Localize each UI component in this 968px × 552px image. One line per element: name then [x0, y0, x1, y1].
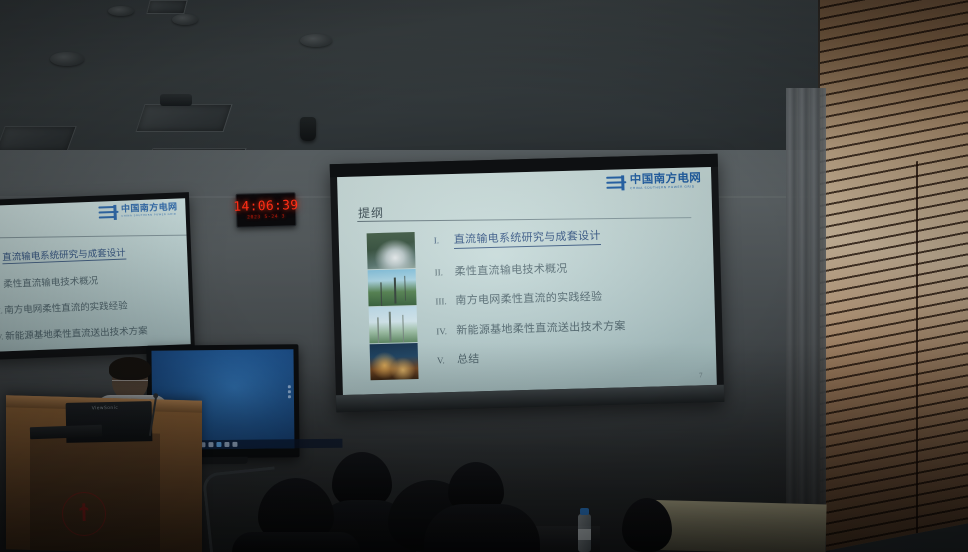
- item-number: I.: [434, 235, 454, 246]
- item-number: III.: [435, 296, 455, 307]
- item-label: 总结: [457, 350, 480, 367]
- projector: [300, 117, 316, 141]
- slide-thumbnail-strip: [367, 232, 419, 381]
- item-number: II.: [435, 266, 455, 277]
- left-slide-logo: 中国南方电网 CHINA SOUTHERN POWER GRID: [98, 203, 178, 221]
- transmission-towers-photo: [369, 306, 418, 343]
- laptop-base: [30, 425, 102, 440]
- window-curtain: [786, 88, 826, 552]
- list-item: V. 总结: [437, 344, 706, 367]
- air-vent: [146, 0, 187, 14]
- monitor-brand-label: ViewSonic: [92, 406, 119, 412]
- transmission-line-hills-photo: [368, 269, 417, 306]
- wall-shading: [820, 0, 968, 552]
- lecture-hall-photo: 中国南方电网 CHINA SOUTHERN POWER GRID I. 直流输电…: [0, 0, 968, 552]
- ceiling-speaker: [160, 94, 192, 106]
- slide-logo: 中国南方电网 CHINA SOUTHERN POWER GRID: [606, 172, 702, 191]
- outline-list: I. 直流输电系统研究与成套设计 II. 柔性直流输电技术概况 III. 南方电…: [434, 224, 707, 381]
- item-label: 柔性直流输电技术概况: [454, 259, 567, 278]
- left-list-item: II. 柔性直流输电技术概况: [0, 269, 184, 290]
- left-logo-cn-text: 中国南方电网: [121, 204, 178, 215]
- bottle-cap: [580, 508, 589, 515]
- left-outline-list: I. 直流输电系统研究与成套设计 II. 柔性直流输电技术概况 III. 南方电…: [0, 242, 188, 351]
- left-logo-en-text: CHINA SOUTHERN POWER GRID: [121, 214, 177, 218]
- audience-shoulders: [232, 532, 360, 552]
- left-list-item: IV. 新能源基地柔性直流送出技术方案: [0, 321, 186, 342]
- slide-title: 提纲: [358, 204, 384, 222]
- downlight-icon: [172, 14, 198, 25]
- clock-date: 2023 5-24 3: [247, 215, 285, 221]
- item-label: 直流输电系统研究与成套设计: [454, 227, 601, 249]
- slide-page-number: 7: [699, 371, 703, 379]
- taskbar-icon-active: [216, 442, 221, 447]
- bottle-label: [578, 529, 591, 540]
- air-vent: [0, 126, 77, 152]
- list-item: IV. 新能源基地柔性直流送出技术方案: [436, 315, 705, 338]
- podium-front-panel: [30, 430, 160, 552]
- downlight-icon: [50, 52, 84, 66]
- logo-cn-text: 中国南方电网: [630, 172, 702, 185]
- taskbar-icon: [208, 442, 213, 447]
- item-number: V.: [437, 355, 457, 366]
- item-label: 新能源基地柔性直流送出技术方案: [456, 317, 626, 338]
- item-label: 南方电网柔性直流的实践经验: [455, 288, 602, 308]
- list-item: I. 直流输电系统研究与成套设计: [434, 224, 703, 249]
- left-title-rule: [0, 234, 191, 238]
- downlight-icon: [300, 34, 332, 47]
- secondary-projection-screen: 中国南方电网 CHINA SOUTHERN POWER GRID I. 直流输电…: [0, 192, 195, 360]
- title-divider: [357, 217, 691, 222]
- list-item: III. 南方电网柔性直流的实践经验: [435, 285, 704, 308]
- night-city-lights-photo: [370, 343, 419, 380]
- tv-side-icons: [288, 385, 291, 398]
- wood-slat-wall: [820, 0, 968, 552]
- left-slide-surface: 中国南方电网 CHINA SOUTHERN POWER GRID I. 直流输电…: [0, 198, 191, 351]
- taskbar-icon: [232, 442, 237, 447]
- led-wall-clock: 14:06:39 2023 5-24 3: [236, 192, 297, 228]
- clock-time: 14:06:39: [233, 199, 298, 214]
- glasses-icon: [112, 380, 148, 386]
- tv-stand: [200, 457, 248, 465]
- downlight-icon: [108, 6, 134, 16]
- dam-spillway-photo: [367, 232, 416, 269]
- left-list-item: I. 直流输电系统研究与成套设计: [0, 242, 183, 264]
- air-vent: [135, 104, 232, 132]
- audience-shoulders: [424, 504, 540, 552]
- taskbar-icon: [224, 442, 229, 447]
- csg-logo-icon: [98, 205, 119, 221]
- left-list-item: III. 南方电网柔性直流的实践经验: [0, 295, 185, 316]
- presentation-slide: 中国南方电网 CHINA SOUTHERN POWER GRID 提纲 I. 直…: [337, 167, 717, 395]
- presenter-hair: [109, 357, 151, 380]
- logo-en-text: CHINA SOUTHERN POWER GRID: [630, 185, 701, 190]
- item-number: IV.: [436, 325, 456, 336]
- csg-logo-icon: [606, 175, 626, 191]
- list-item: II. 柔性直流输电技术概况: [434, 256, 703, 279]
- water-bottle: [578, 514, 591, 552]
- main-projection-screen: 中国南方电网 CHINA SOUTHERN POWER GRID 提纲 I. 直…: [330, 154, 725, 412]
